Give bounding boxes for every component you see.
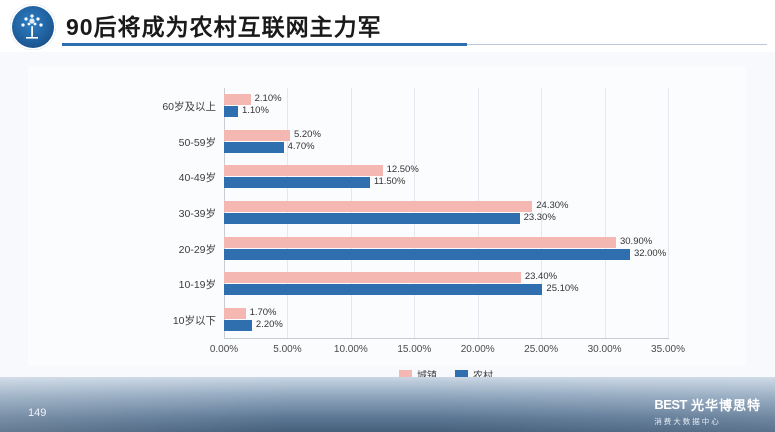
category-label: 20-29岁 xyxy=(148,242,216,257)
bar-value-label: 2.10% xyxy=(255,93,282,104)
brand-subtitle: 消费大数据中心 xyxy=(654,416,721,427)
bar-city xyxy=(224,165,383,176)
category-label: 60岁及以上 xyxy=(148,99,216,114)
bar-value-label: 4.70% xyxy=(288,141,315,152)
bar-value-label: 30.90% xyxy=(620,236,652,247)
category-label: 10岁以下 xyxy=(148,313,216,328)
bar-value-label: 1.10% xyxy=(242,105,269,116)
slide-body: 60岁及以上50-59岁40-49岁30-39岁20-29岁10-19岁10岁以… xyxy=(0,52,775,377)
bar-rural xyxy=(224,213,520,224)
page-title: 90后将成为农村互联网主力军 xyxy=(66,8,382,42)
x-tick-label: 30.00% xyxy=(588,344,622,355)
bar-rural xyxy=(224,177,370,188)
bar-value-label: 32.00% xyxy=(634,248,666,259)
bar-city xyxy=(224,237,616,248)
bar-city xyxy=(224,272,521,283)
bar-city xyxy=(224,308,246,319)
slide-header: 90后将成为农村互联网主力军 xyxy=(0,0,775,52)
title-underline-thin xyxy=(467,44,767,45)
bar-rural xyxy=(224,320,252,331)
x-tick-label: 0.00% xyxy=(210,344,238,355)
x-tick-label: 15.00% xyxy=(397,344,431,355)
bar-city xyxy=(224,201,532,212)
x-tick-label: 10.00% xyxy=(334,344,368,355)
category-label: 40-49岁 xyxy=(148,170,216,185)
brand-mark: BEST xyxy=(654,397,687,412)
bar-rural xyxy=(224,142,284,153)
x-tick-label: 35.00% xyxy=(651,344,685,355)
bar-value-label: 12.50% xyxy=(387,164,419,175)
x-axis-line xyxy=(224,338,669,339)
bar-value-label: 24.30% xyxy=(536,200,568,211)
bar-city xyxy=(224,94,251,105)
bar-value-label: 23.30% xyxy=(524,212,556,223)
slide-footer: 149 BEST 光华博思特 消费大数据中心 xyxy=(0,377,775,432)
bar-value-label: 11.50% xyxy=(374,176,406,187)
x-tick-label: 5.00% xyxy=(273,344,301,355)
x-tick-label: 25.00% xyxy=(524,344,558,355)
bar-value-label: 5.20% xyxy=(294,129,321,140)
bar-value-label: 2.20% xyxy=(256,319,283,330)
fireworks-circle-logo-icon xyxy=(10,4,56,50)
gridline xyxy=(668,88,669,338)
bar-city xyxy=(224,130,290,141)
category-label: 30-39岁 xyxy=(148,206,216,221)
title-underline xyxy=(62,43,467,46)
logo-glyph-icon xyxy=(10,4,56,50)
chart-container: 60岁及以上50-59岁40-49岁30-39岁20-29岁10-19岁10岁以… xyxy=(28,66,746,366)
bar-rural xyxy=(224,284,542,295)
brand-name: 光华博思特 xyxy=(691,395,761,414)
brand-logo: BEST 光华博思特 消费大数据中心 xyxy=(654,395,761,427)
bar-value-label: 1.70% xyxy=(250,307,277,318)
gridline xyxy=(605,88,606,338)
bar-value-label: 23.40% xyxy=(525,271,557,282)
bar-value-label: 25.10% xyxy=(546,283,578,294)
category-label: 50-59岁 xyxy=(148,135,216,150)
bar-rural xyxy=(224,249,630,260)
bar-rural xyxy=(224,106,238,117)
page-number: 149 xyxy=(28,407,46,419)
category-label: 10-19岁 xyxy=(148,277,216,292)
x-tick-label: 20.00% xyxy=(461,344,495,355)
